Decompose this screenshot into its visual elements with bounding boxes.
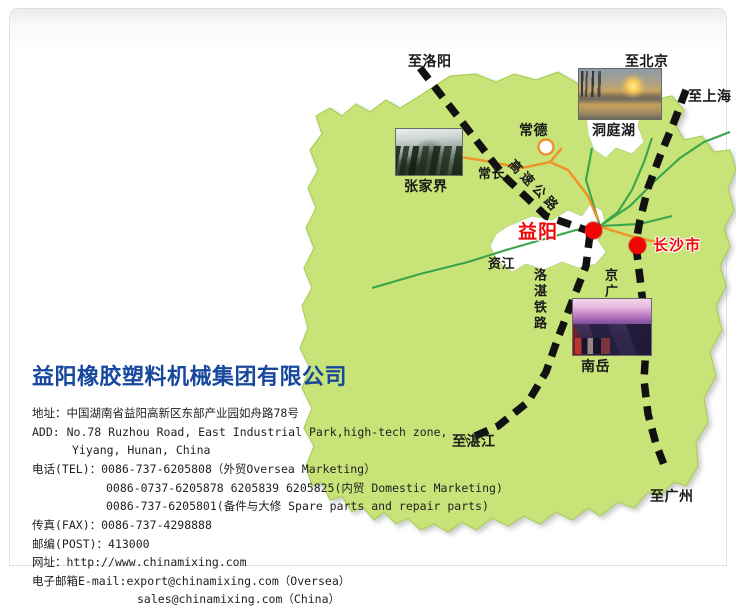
feature-label-zijiang-river: 资江 <box>488 258 515 271</box>
destination-label-to-shanghai: 至上海 <box>688 90 732 104</box>
contact-line-post: 邮编(POST)：413000 <box>32 535 452 554</box>
changde-city-marker <box>539 140 554 155</box>
destination-label-to-guangzhou: 至广州 <box>650 490 694 504</box>
contact-lines: 地址：中国湖南省益阳高新区东部产业园如舟路78号ADD: No.78 Ruzho… <box>32 404 452 609</box>
contact-line-fax: 传真(FAX)：0086-737-4298888 <box>32 516 452 535</box>
route-label-luozhan-railway: 洛湛铁路 <box>532 268 545 332</box>
photo-caption-zhangjiajie: 张家界 <box>404 180 448 194</box>
city-label-changsha: 长沙市 <box>653 238 701 253</box>
destination-label-to-beijing: 至北京 <box>625 55 669 69</box>
photo-dongtinghu <box>578 68 662 120</box>
city-marker-yiyang <box>585 222 602 239</box>
contact-information-block: 益阳橡胶塑料机械集团有限公司 地址：中国湖南省益阳高新区东部产业园如舟路78号A… <box>32 366 452 609</box>
contact-line-email-1: 电子邮箱E-mail:export@chinamixing.com（Overse… <box>32 572 452 591</box>
city-marker-changsha <box>629 237 646 254</box>
photo-caption-dongtinghu: 洞庭湖 <box>592 124 636 138</box>
destination-label-to-zhanjiang: 至湛江 <box>452 435 496 449</box>
company-name: 益阳橡胶塑料机械集团有限公司 <box>32 366 452 390</box>
photo-caption-nanyue: 南岳 <box>581 360 610 374</box>
contact-line-tel-3: 0086-737-6205801(备件与大修 Spare parts and r… <box>32 497 452 516</box>
contact-line-address-cn: 地址：中国湖南省益阳高新区东部产业园如舟路78号 <box>32 404 452 423</box>
photo-zhangjiajie <box>395 128 463 176</box>
photo-nanyue <box>572 298 652 356</box>
city-label-yiyang: 益阳 <box>518 223 558 242</box>
city-label-changde: 常德 <box>519 124 548 138</box>
contact-line-address-en-1: ADD: No.78 Ruzhou Road, East Industrial … <box>32 423 452 442</box>
contact-line-tel-2: 0086-0737-6205878 6205839 6205825(内贸 Dom… <box>32 479 452 498</box>
contact-line-email-2: sales@chinamixing.com（China） <box>32 590 452 609</box>
contact-line-address-en-2: Yiyang, Hunan, China <box>32 441 452 460</box>
destination-label-to-luoyang: 至洛阳 <box>408 55 452 69</box>
route-label-changchang-expressway-short: 常长 <box>478 168 505 181</box>
contact-line-tel-1: 电话(TEL)：0086-737-6205808（外贸Oversea Marke… <box>32 460 452 479</box>
contact-line-website: 网址：http://www.chinamixing.com <box>32 553 452 572</box>
